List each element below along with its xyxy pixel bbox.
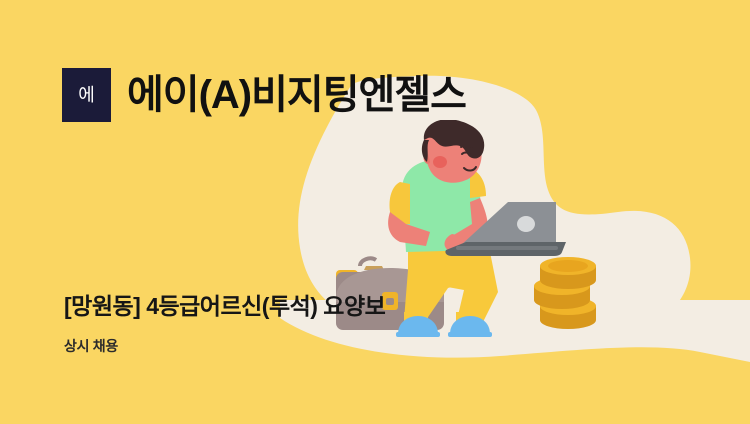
employment-type-label: 상시 채용 (64, 338, 118, 355)
job-title: [망원동] 4등급어르신(투석) 요양보 (64, 293, 385, 321)
company-logo-initial: 에 (78, 86, 95, 104)
company-name: 에이(A)비지팅엔젤스 (127, 75, 466, 115)
job-posting-card: 에 에이(A)비지팅엔젤스 [망원동] 4등급어르신(투석) 요양보 상시 채용 (0, 0, 750, 424)
coin-stack-icon (534, 257, 596, 329)
company-logo-badge: 에 (62, 68, 111, 122)
company-header: 에 에이(A)비지팅엔젤스 (62, 68, 466, 122)
